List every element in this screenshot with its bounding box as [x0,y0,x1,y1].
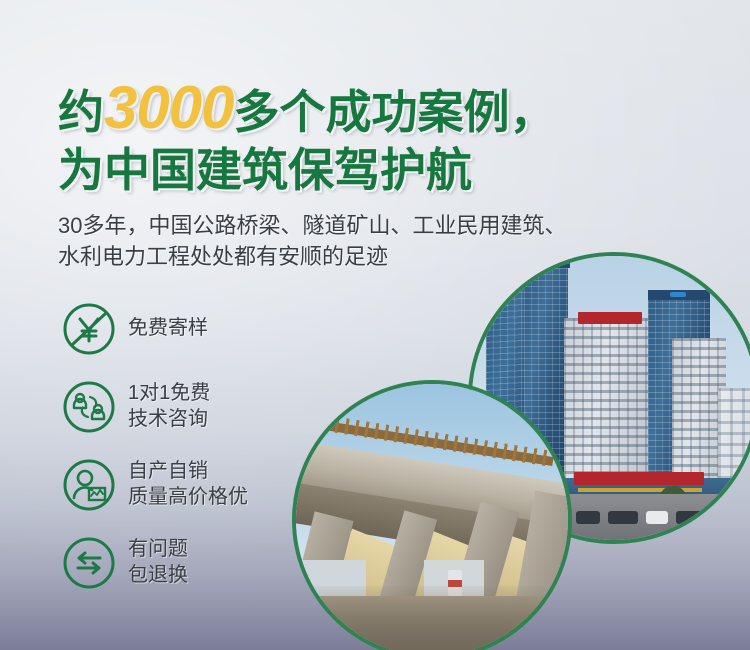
feature-item-self-produced: 自产自销 质量高价格优 [60,456,248,514]
two-person-exchange-icon [60,378,118,436]
headline-number: 3000 [104,74,233,141]
headline-line-2: 为中国建筑保驾护航 [58,147,555,193]
feature-label: 自产自销 质量高价格优 [128,459,248,510]
subtitle-line-1: 30多年，中国公路桥梁、隧道矿山、工业民用建筑、 [58,210,566,241]
headline-line-1: 约3000多个成功案例， [58,78,555,138]
feature-item-free-sample: 免费寄样 [60,300,248,358]
exchange-arrows-icon [60,534,118,592]
subtitle-line-2: 水利电力工程处处都有安顺的足迹 [58,241,566,272]
feature-list: 免费寄样 1对1免费 技术咨询 [60,300,248,592]
feature-item-return-exchange: 有问题 包退换 [60,534,248,592]
feature-label: 有问题 包退换 [128,537,188,588]
page-title: 约3000多个成功案例， 为中国建筑保驾护航 [58,78,555,193]
person-chart-icon [60,456,118,514]
feature-label: 1对1免费 技术咨询 [128,381,210,432]
headline-prefix: 约 [58,86,104,138]
feature-label: 免费寄样 [128,316,208,342]
subtitle: 30多年，中国公路桥梁、隧道矿山、工业民用建筑、 水利电力工程处处都有安顺的足迹 [58,210,566,272]
promo-banner: 约3000多个成功案例， 为中国建筑保驾护航 30多年，中国公路桥梁、隧道矿山、… [0,0,750,650]
no-fee-yen-icon [60,300,118,358]
headline-suffix: 多个成功案例， [233,86,555,138]
bridge-photo [292,380,572,650]
feature-item-free-consult: 1对1免费 技术咨询 [60,378,248,436]
